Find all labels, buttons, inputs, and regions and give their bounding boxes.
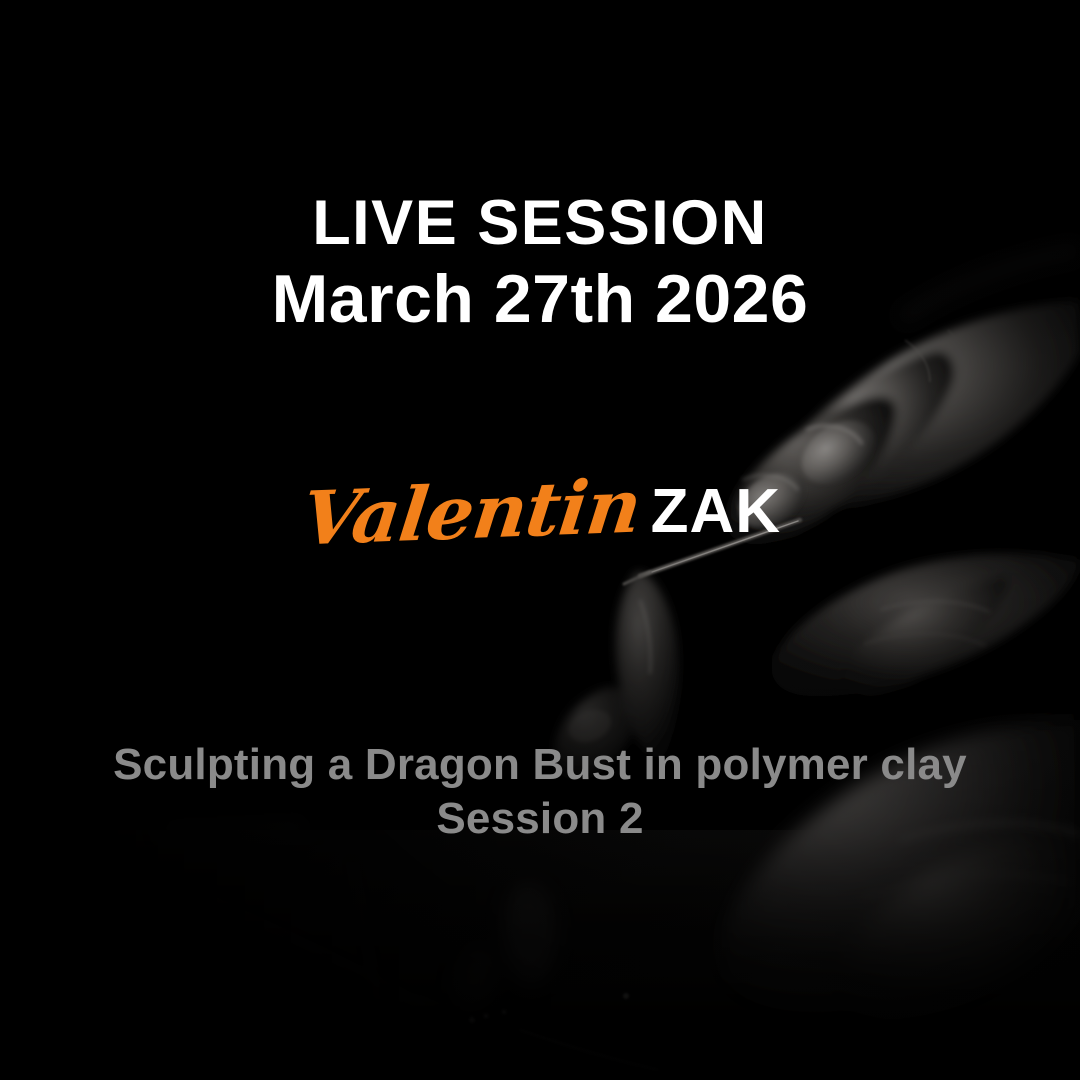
headline-block: LIVE SESSION March 27th 2026 bbox=[0, 192, 1080, 337]
subtitle-topic: Sculpting a Dragon Bust in polymer clay bbox=[0, 738, 1080, 792]
poster-content: LIVE SESSION March 27th 2026 ValentinZAK… bbox=[0, 0, 1080, 1080]
headline-date: March 27th 2026 bbox=[0, 261, 1080, 337]
artist-name-block: ValentinZAK bbox=[0, 470, 1080, 544]
artist-first-name: Valentin bbox=[298, 470, 644, 557]
subtitle-block: Sculpting a Dragon Bust in polymer clay … bbox=[0, 738, 1080, 845]
artist-last-name: ZAK bbox=[651, 481, 781, 543]
subtitle-session-number: Session 2 bbox=[0, 792, 1080, 846]
promo-poster: LIVE SESSION March 27th 2026 ValentinZAK… bbox=[0, 0, 1080, 1080]
headline-live-session: LIVE SESSION bbox=[0, 192, 1080, 255]
